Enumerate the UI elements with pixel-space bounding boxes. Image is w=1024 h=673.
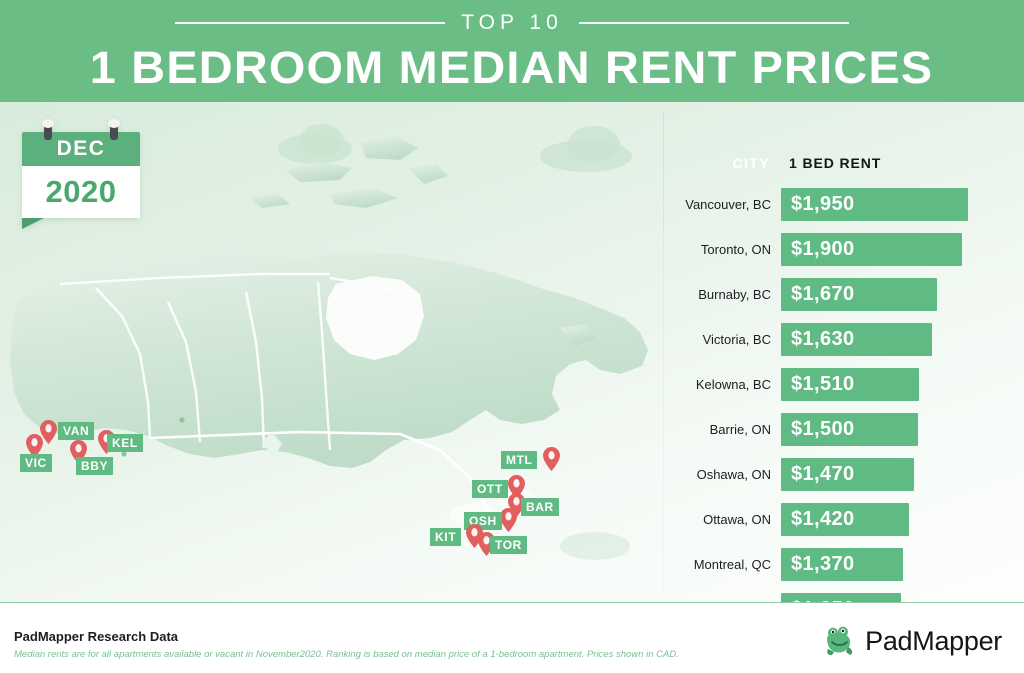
map-pin-label-kit: KIT bbox=[430, 528, 461, 546]
table-row: Ottawa, ON$1,420 bbox=[663, 501, 1024, 538]
row-value-label: $1,670 bbox=[781, 283, 855, 306]
infographic-page: TOP 10 1 BEDROOM MEDIAN RENT PRICES bbox=[0, 0, 1024, 673]
table-row: Vancouver, BC$1,950 bbox=[663, 186, 1024, 223]
location-pin-icon bbox=[500, 508, 517, 532]
table-row: Victoria, BC$1,630 bbox=[663, 321, 1024, 358]
kicker-row: TOP 10 bbox=[0, 11, 1024, 35]
chart-rows: Vancouver, BC$1,950Toronto, ON$1,900Burn… bbox=[663, 186, 1024, 636]
row-value-label: $1,510 bbox=[781, 373, 855, 396]
header-banner: TOP 10 1 BEDROOM MEDIAN RENT PRICES bbox=[0, 0, 1024, 102]
map-pin-label-ott: OTT bbox=[472, 480, 508, 498]
row-city-label: Oshawa, ON bbox=[663, 467, 781, 482]
table-row: Burnaby, BC$1,670 bbox=[663, 276, 1024, 313]
row-value-label: $1,950 bbox=[781, 193, 855, 216]
map-pin-label-mtl: MTL bbox=[501, 451, 537, 469]
rent-chart: CITY 1 BED RENT Vancouver, BC$1,950Toron… bbox=[663, 102, 1024, 602]
chart-column-headers: CITY 1 BED RENT bbox=[663, 155, 1024, 175]
calendar-fold bbox=[22, 218, 44, 229]
source-title: PadMapper Research Data bbox=[14, 629, 178, 644]
row-city-label: Montreal, QC bbox=[663, 557, 781, 572]
row-city-label: Vancouver, BC bbox=[663, 197, 781, 212]
row-value-label: $1,470 bbox=[781, 463, 855, 486]
row-bar: $1,900 bbox=[781, 233, 962, 266]
row-value-label: $1,630 bbox=[781, 328, 855, 351]
row-city-label: Ottawa, ON bbox=[663, 512, 781, 527]
kicker-rule-left bbox=[175, 22, 445, 24]
calendar-header: DEC bbox=[22, 132, 140, 166]
map-dot bbox=[121, 451, 126, 456]
footer-disclaimer: Median rents are for all apartments avai… bbox=[14, 649, 679, 660]
map-pin-label-vic: VIC bbox=[20, 454, 52, 472]
map-pin-osh[interactable] bbox=[500, 508, 517, 537]
kicker-rule-right bbox=[579, 22, 849, 24]
frog-icon bbox=[824, 625, 858, 657]
calendar-body: 2020 bbox=[22, 166, 140, 218]
table-row: Barrie, ON$1,500 bbox=[663, 411, 1024, 448]
calendar-month: DEC bbox=[57, 137, 106, 161]
row-value-label: $1,500 bbox=[781, 418, 855, 441]
table-row: Kelowna, BC$1,510 bbox=[663, 366, 1024, 403]
footer: PadMapper Research Data Median rents are… bbox=[0, 602, 1024, 673]
row-city-label: Kelowna, BC bbox=[663, 377, 781, 392]
map-pin-label-bby: BBY bbox=[76, 457, 113, 475]
row-city-label: Burnaby, BC bbox=[663, 287, 781, 302]
map-pin-mtl[interactable] bbox=[543, 447, 560, 476]
calendar-ring bbox=[110, 123, 118, 140]
row-city-label: Victoria, BC bbox=[663, 332, 781, 347]
row-bar: $1,630 bbox=[781, 323, 932, 356]
location-pin-icon bbox=[543, 447, 560, 471]
map-pin-label-tor: TOR bbox=[490, 536, 527, 554]
page-title: 1 BEDROOM MEDIAN RENT PRICES bbox=[90, 42, 934, 94]
table-row: Montreal, QC$1,370 bbox=[663, 546, 1024, 583]
column-header-city: CITY bbox=[733, 155, 771, 171]
map-pin-label-bar: BAR bbox=[521, 498, 559, 516]
row-bar: $1,510 bbox=[781, 368, 919, 401]
row-value-label: $1,370 bbox=[781, 553, 855, 576]
row-bar: $1,470 bbox=[781, 458, 914, 491]
row-value-label: $1,900 bbox=[781, 238, 855, 261]
table-row: Oshawa, ON$1,470 bbox=[663, 456, 1024, 493]
arctic-islands bbox=[250, 136, 448, 208]
map-pin-label-van: VAN bbox=[58, 422, 94, 440]
map-dot bbox=[179, 417, 184, 422]
row-city-label: Toronto, ON bbox=[663, 242, 781, 257]
brand-logo: PadMapper bbox=[824, 625, 1002, 657]
kicker-label: TOP 10 bbox=[461, 11, 563, 35]
calendar-ring bbox=[44, 123, 52, 140]
row-bar: $1,950 bbox=[781, 188, 968, 221]
column-header-rent: 1 BED RENT bbox=[789, 155, 881, 171]
brand-name: PadMapper bbox=[865, 626, 1002, 657]
row-value-label: $1,420 bbox=[781, 508, 855, 531]
map-pin-label-kel: KEL bbox=[107, 434, 143, 452]
table-row: Toronto, ON$1,900 bbox=[663, 231, 1024, 268]
row-city-label: Barrie, ON bbox=[663, 422, 781, 437]
row-bar: $1,670 bbox=[781, 278, 937, 311]
row-bar: $1,420 bbox=[781, 503, 909, 536]
calendar-year: 2020 bbox=[46, 174, 117, 210]
row-bar: $1,500 bbox=[781, 413, 918, 446]
row-bar: $1,370 bbox=[781, 548, 903, 581]
date-badge: DEC 2020 bbox=[22, 132, 140, 218]
